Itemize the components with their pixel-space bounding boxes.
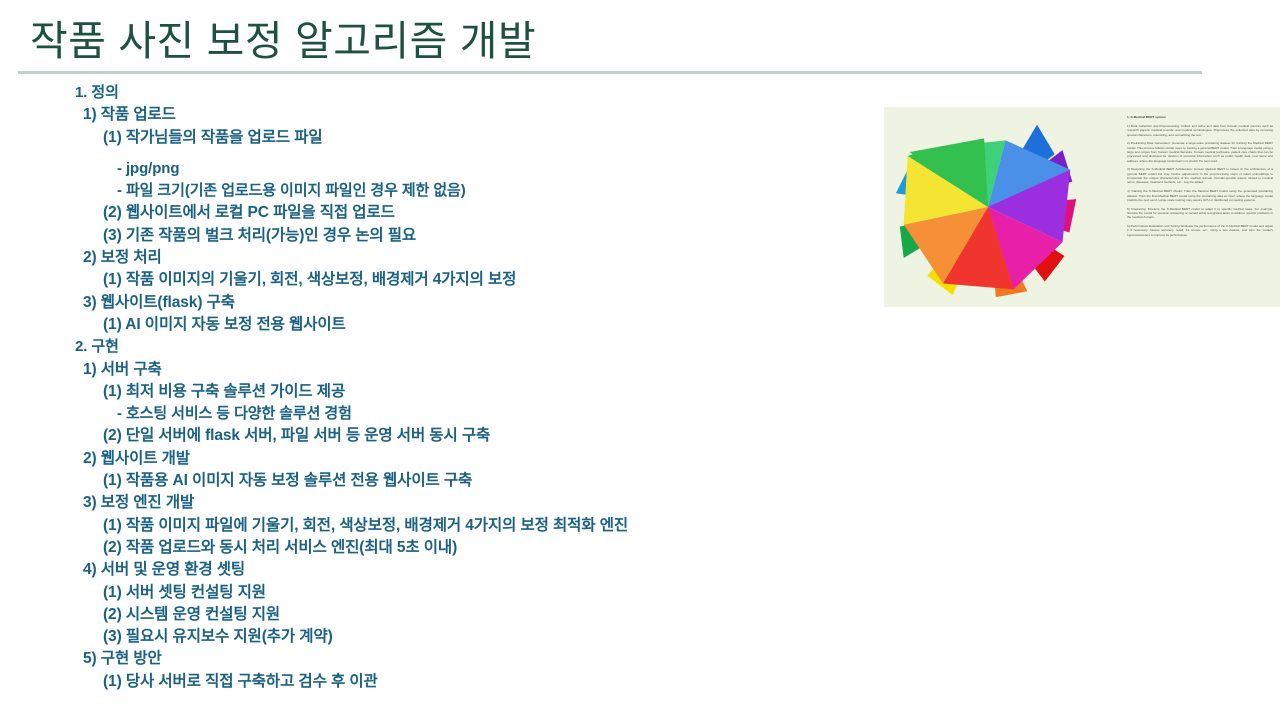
outline-line: 2. 구현 (0, 336, 880, 358)
doc-paragraph: 4) Training the K-Medical BERT Model: Tr… (1127, 189, 1273, 202)
doc-paragraph: 1) Data Collection and Preprocessing: Co… (1127, 124, 1273, 137)
doc-paragraph: 3) Designing the K-Medical BERT Architec… (1127, 167, 1273, 184)
outline-line: (2) 단일 서버에 flask 서버, 파일 서버 등 운영 서버 동시 구축 (0, 425, 880, 447)
picture-panel[interactable]: 1. K-Medical BERT system1) Data Collecti… (884, 107, 1280, 307)
outline-line: (1) 작가님들의 작품을 업로드 파일 (0, 127, 880, 149)
outline-line: 5) 구현 방안 (0, 648, 880, 670)
doc-heading: 1. K-Medical BERT system (1127, 115, 1273, 119)
outline-line: 3) 웹사이트(flask) 구축 (0, 292, 880, 314)
doc-paragraph: 2) Pretraining Data Generation: Generate… (1127, 141, 1273, 163)
doc-paragraph: 5) Finetuning: Finetune the K-Medical BE… (1127, 207, 1273, 220)
outline-body: 1. 정의1) 작품 업로드(1) 작가님들의 작품을 업로드 파일- jpg/… (0, 82, 880, 693)
outline-line: (1) AI 이미지 자동 보정 전용 웹사이트 (0, 314, 880, 336)
outline-line: (1) 당사 서버로 직접 구축하고 검수 후 이관 (0, 671, 880, 693)
outline-line: 1) 작품 업로드 (0, 104, 880, 126)
doc-paragraph: 6) Performance Evaluation and Tuning: Ev… (1127, 224, 1273, 237)
outline-line: 2) 웹사이트 개발 (0, 448, 880, 470)
outline-line: 3) 보정 엔진 개발 (0, 492, 880, 514)
outline-line: (1) 작품 이미지 파일에 기울기, 회전, 색상보정, 배경제거 4가지의 … (0, 515, 880, 537)
outline-line: (2) 웹사이트에서 로컬 PC 파일을 직접 업로드 (0, 202, 880, 224)
outline-line: 4) 서버 및 운영 환경 셋팅 (0, 559, 880, 581)
outline-line: (2) 작품 업로드와 동시 처리 서비스 엔진(최대 5초 이내) (0, 537, 880, 559)
color-pinwheel-icon (890, 109, 1086, 305)
outline-line: (2) 시스템 운영 컨설팅 지원 (0, 604, 880, 626)
document-thumbnail-text: 1. K-Medical BERT system1) Data Collecti… (1127, 115, 1273, 299)
page-title: 작품 사진 보정 알고리즘 개발 (30, 16, 536, 66)
outline-line: - jpg/png (0, 158, 880, 180)
outline-line: 2) 보정 처리 (0, 247, 880, 269)
outline-line: - 호스팅 서비스 등 다양한 솔루션 경험 (0, 403, 880, 425)
outline-line: 1) 서버 구축 (0, 359, 880, 381)
outline-line: (1) 서버 셋팅 컨설팅 지원 (0, 582, 880, 604)
outline-line: (1) 작품 이미지의 기울기, 회전, 색상보정, 배경제거 4가지의 보정 (0, 269, 880, 291)
outline-line: 1. 정의 (0, 82, 880, 104)
outline-line: (1) 최저 비용 구축 솔루션 가이드 제공 (0, 381, 880, 403)
outline-line: (3) 필요시 유지보수 지원(추가 계약) (0, 626, 880, 648)
outline-line: (1) 작품용 AI 이미지 자동 보정 솔루션 전용 웹사이트 구축 (0, 470, 880, 492)
outline-line: (3) 기존 작품의 벌크 처리(가능)인 경우 논의 필요 (0, 225, 880, 247)
outline-line: - 파일 크기(기존 업로드용 이미지 파일인 경우 제한 없음) (0, 180, 880, 202)
title-divider (18, 71, 1202, 74)
